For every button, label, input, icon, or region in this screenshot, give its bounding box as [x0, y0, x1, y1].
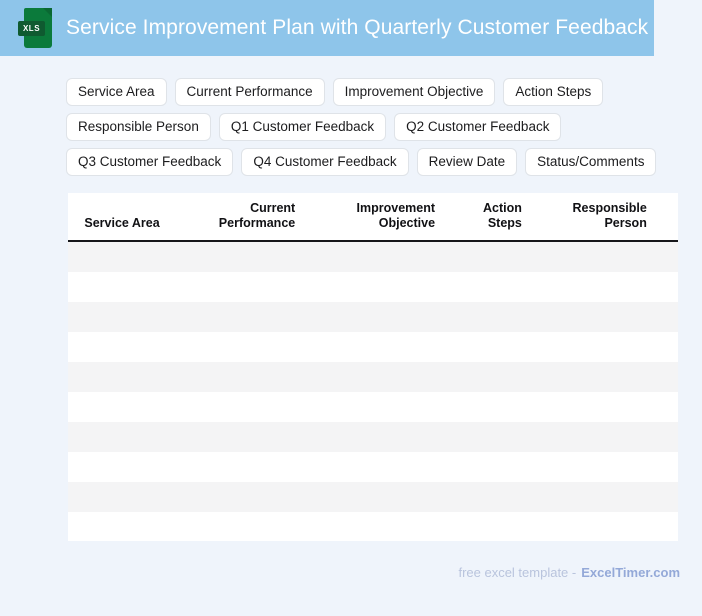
tag-responsible-person[interactable]: Responsible Person [66, 113, 211, 141]
table-body [68, 241, 678, 541]
table-cell[interactable] [657, 482, 678, 512]
table-cell[interactable] [305, 332, 445, 362]
table-cell[interactable] [170, 332, 306, 362]
table-cell[interactable] [170, 392, 306, 422]
table-cell[interactable] [170, 362, 306, 392]
table-cell[interactable] [657, 422, 678, 452]
table-cell[interactable] [68, 332, 170, 362]
column-header-service-area[interactable]: Service Area [68, 193, 170, 241]
table-cell[interactable] [68, 392, 170, 422]
table-row[interactable] [68, 482, 678, 512]
table-cell[interactable] [170, 482, 306, 512]
column-header-action-steps[interactable]: Action Steps [445, 193, 532, 241]
column-header-q1-customer-feedback[interactable]: Q1 Customer Feedback [657, 193, 678, 241]
table-cell[interactable] [170, 272, 306, 302]
table-cell[interactable] [532, 332, 657, 362]
footer-lead-text: free excel template - [458, 565, 576, 580]
tag-q4-customer-feedback[interactable]: Q4 Customer Feedback [241, 148, 408, 176]
table-row[interactable] [68, 452, 678, 482]
table-cell[interactable] [68, 241, 170, 272]
table-cell[interactable] [445, 482, 532, 512]
table-cell[interactable] [657, 392, 678, 422]
table-head: Service Area Current Performance Improve… [68, 193, 678, 241]
table-cell[interactable] [445, 452, 532, 482]
table-cell[interactable] [445, 422, 532, 452]
table-cell[interactable] [657, 272, 678, 302]
table-cell[interactable] [170, 512, 306, 541]
header-banner: XLS Service Improvement Plan with Quarte… [0, 0, 654, 56]
table-row[interactable] [68, 302, 678, 332]
table-cell[interactable] [305, 512, 445, 541]
tag-row: Responsible Person Q1 Customer Feedback … [66, 113, 682, 141]
table-cell[interactable] [170, 241, 306, 272]
tag-q2-customer-feedback[interactable]: Q2 Customer Feedback [394, 113, 561, 141]
table-cell[interactable] [657, 241, 678, 272]
table-row[interactable] [68, 422, 678, 452]
tag-row: Service Area Current Performance Improve… [66, 78, 682, 106]
table-cell[interactable] [445, 362, 532, 392]
tag-improvement-objective[interactable]: Improvement Objective [333, 78, 496, 106]
table-cell[interactable] [170, 422, 306, 452]
table-cell[interactable] [305, 482, 445, 512]
table-cell[interactable] [305, 422, 445, 452]
table-cell[interactable] [170, 452, 306, 482]
table-cell[interactable] [68, 422, 170, 452]
table-cell[interactable] [305, 452, 445, 482]
spreadsheet-preview[interactable]: Service Area Current Performance Improve… [68, 193, 678, 541]
tag-status-comments[interactable]: Status/Comments [525, 148, 656, 176]
table-header-row: Service Area Current Performance Improve… [68, 193, 678, 241]
table-row[interactable] [68, 241, 678, 272]
table-cell[interactable] [532, 392, 657, 422]
column-header-improvement-objective[interactable]: Improvement Objective [305, 193, 445, 241]
table-cell[interactable] [170, 302, 306, 332]
table-row[interactable] [68, 332, 678, 362]
table-cell[interactable] [305, 302, 445, 332]
table-cell[interactable] [657, 452, 678, 482]
table-cell[interactable] [657, 362, 678, 392]
table-cell[interactable] [532, 241, 657, 272]
column-header-responsible-person[interactable]: Responsible Person [532, 193, 657, 241]
table-cell[interactable] [68, 302, 170, 332]
table-row[interactable] [68, 362, 678, 392]
table-cell[interactable] [657, 332, 678, 362]
tag-q1-customer-feedback[interactable]: Q1 Customer Feedback [219, 113, 386, 141]
tag-review-date[interactable]: Review Date [417, 148, 518, 176]
table-cell[interactable] [445, 302, 532, 332]
xls-icon-label: XLS [18, 21, 45, 36]
xls-icon-fold [43, 8, 52, 17]
table-row[interactable] [68, 512, 678, 541]
table-cell[interactable] [532, 362, 657, 392]
table-cell[interactable] [68, 482, 170, 512]
table-cell[interactable] [68, 512, 170, 541]
tag-row: Q3 Customer Feedback Q4 Customer Feedbac… [66, 148, 682, 176]
table-cell[interactable] [305, 362, 445, 392]
table-cell[interactable] [532, 452, 657, 482]
column-tag-list: Service Area Current Performance Improve… [66, 78, 682, 183]
table-cell[interactable] [445, 241, 532, 272]
table-cell[interactable] [445, 512, 532, 541]
table-cell[interactable] [445, 392, 532, 422]
table-cell[interactable] [68, 272, 170, 302]
footer-attribution: free excel template -ExcelTimer.com [458, 565, 680, 580]
table-cell[interactable] [657, 512, 678, 541]
tag-action-steps[interactable]: Action Steps [503, 78, 603, 106]
table-cell[interactable] [532, 272, 657, 302]
page-title: Service Improvement Plan with Quarterly … [66, 16, 648, 40]
table-cell[interactable] [532, 482, 657, 512]
table-cell[interactable] [657, 302, 678, 332]
table-cell[interactable] [445, 332, 532, 362]
table-cell[interactable] [68, 452, 170, 482]
table-row[interactable] [68, 392, 678, 422]
table-cell[interactable] [305, 272, 445, 302]
table-cell[interactable] [305, 392, 445, 422]
footer-brand-link[interactable]: ExcelTimer.com [581, 565, 680, 580]
tag-service-area[interactable]: Service Area [66, 78, 167, 106]
data-table: Service Area Current Performance Improve… [68, 193, 678, 541]
tag-q3-customer-feedback[interactable]: Q3 Customer Feedback [66, 148, 233, 176]
tag-current-performance[interactable]: Current Performance [175, 78, 325, 106]
table-row[interactable] [68, 272, 678, 302]
table-cell[interactable] [532, 422, 657, 452]
table-cell[interactable] [445, 272, 532, 302]
column-header-current-performance[interactable]: Current Performance [170, 193, 306, 241]
table-cell[interactable] [68, 362, 170, 392]
table-cell[interactable] [305, 241, 445, 272]
xls-file-icon: XLS [18, 8, 52, 48]
table-cell[interactable] [532, 512, 657, 541]
table-cell[interactable] [532, 302, 657, 332]
